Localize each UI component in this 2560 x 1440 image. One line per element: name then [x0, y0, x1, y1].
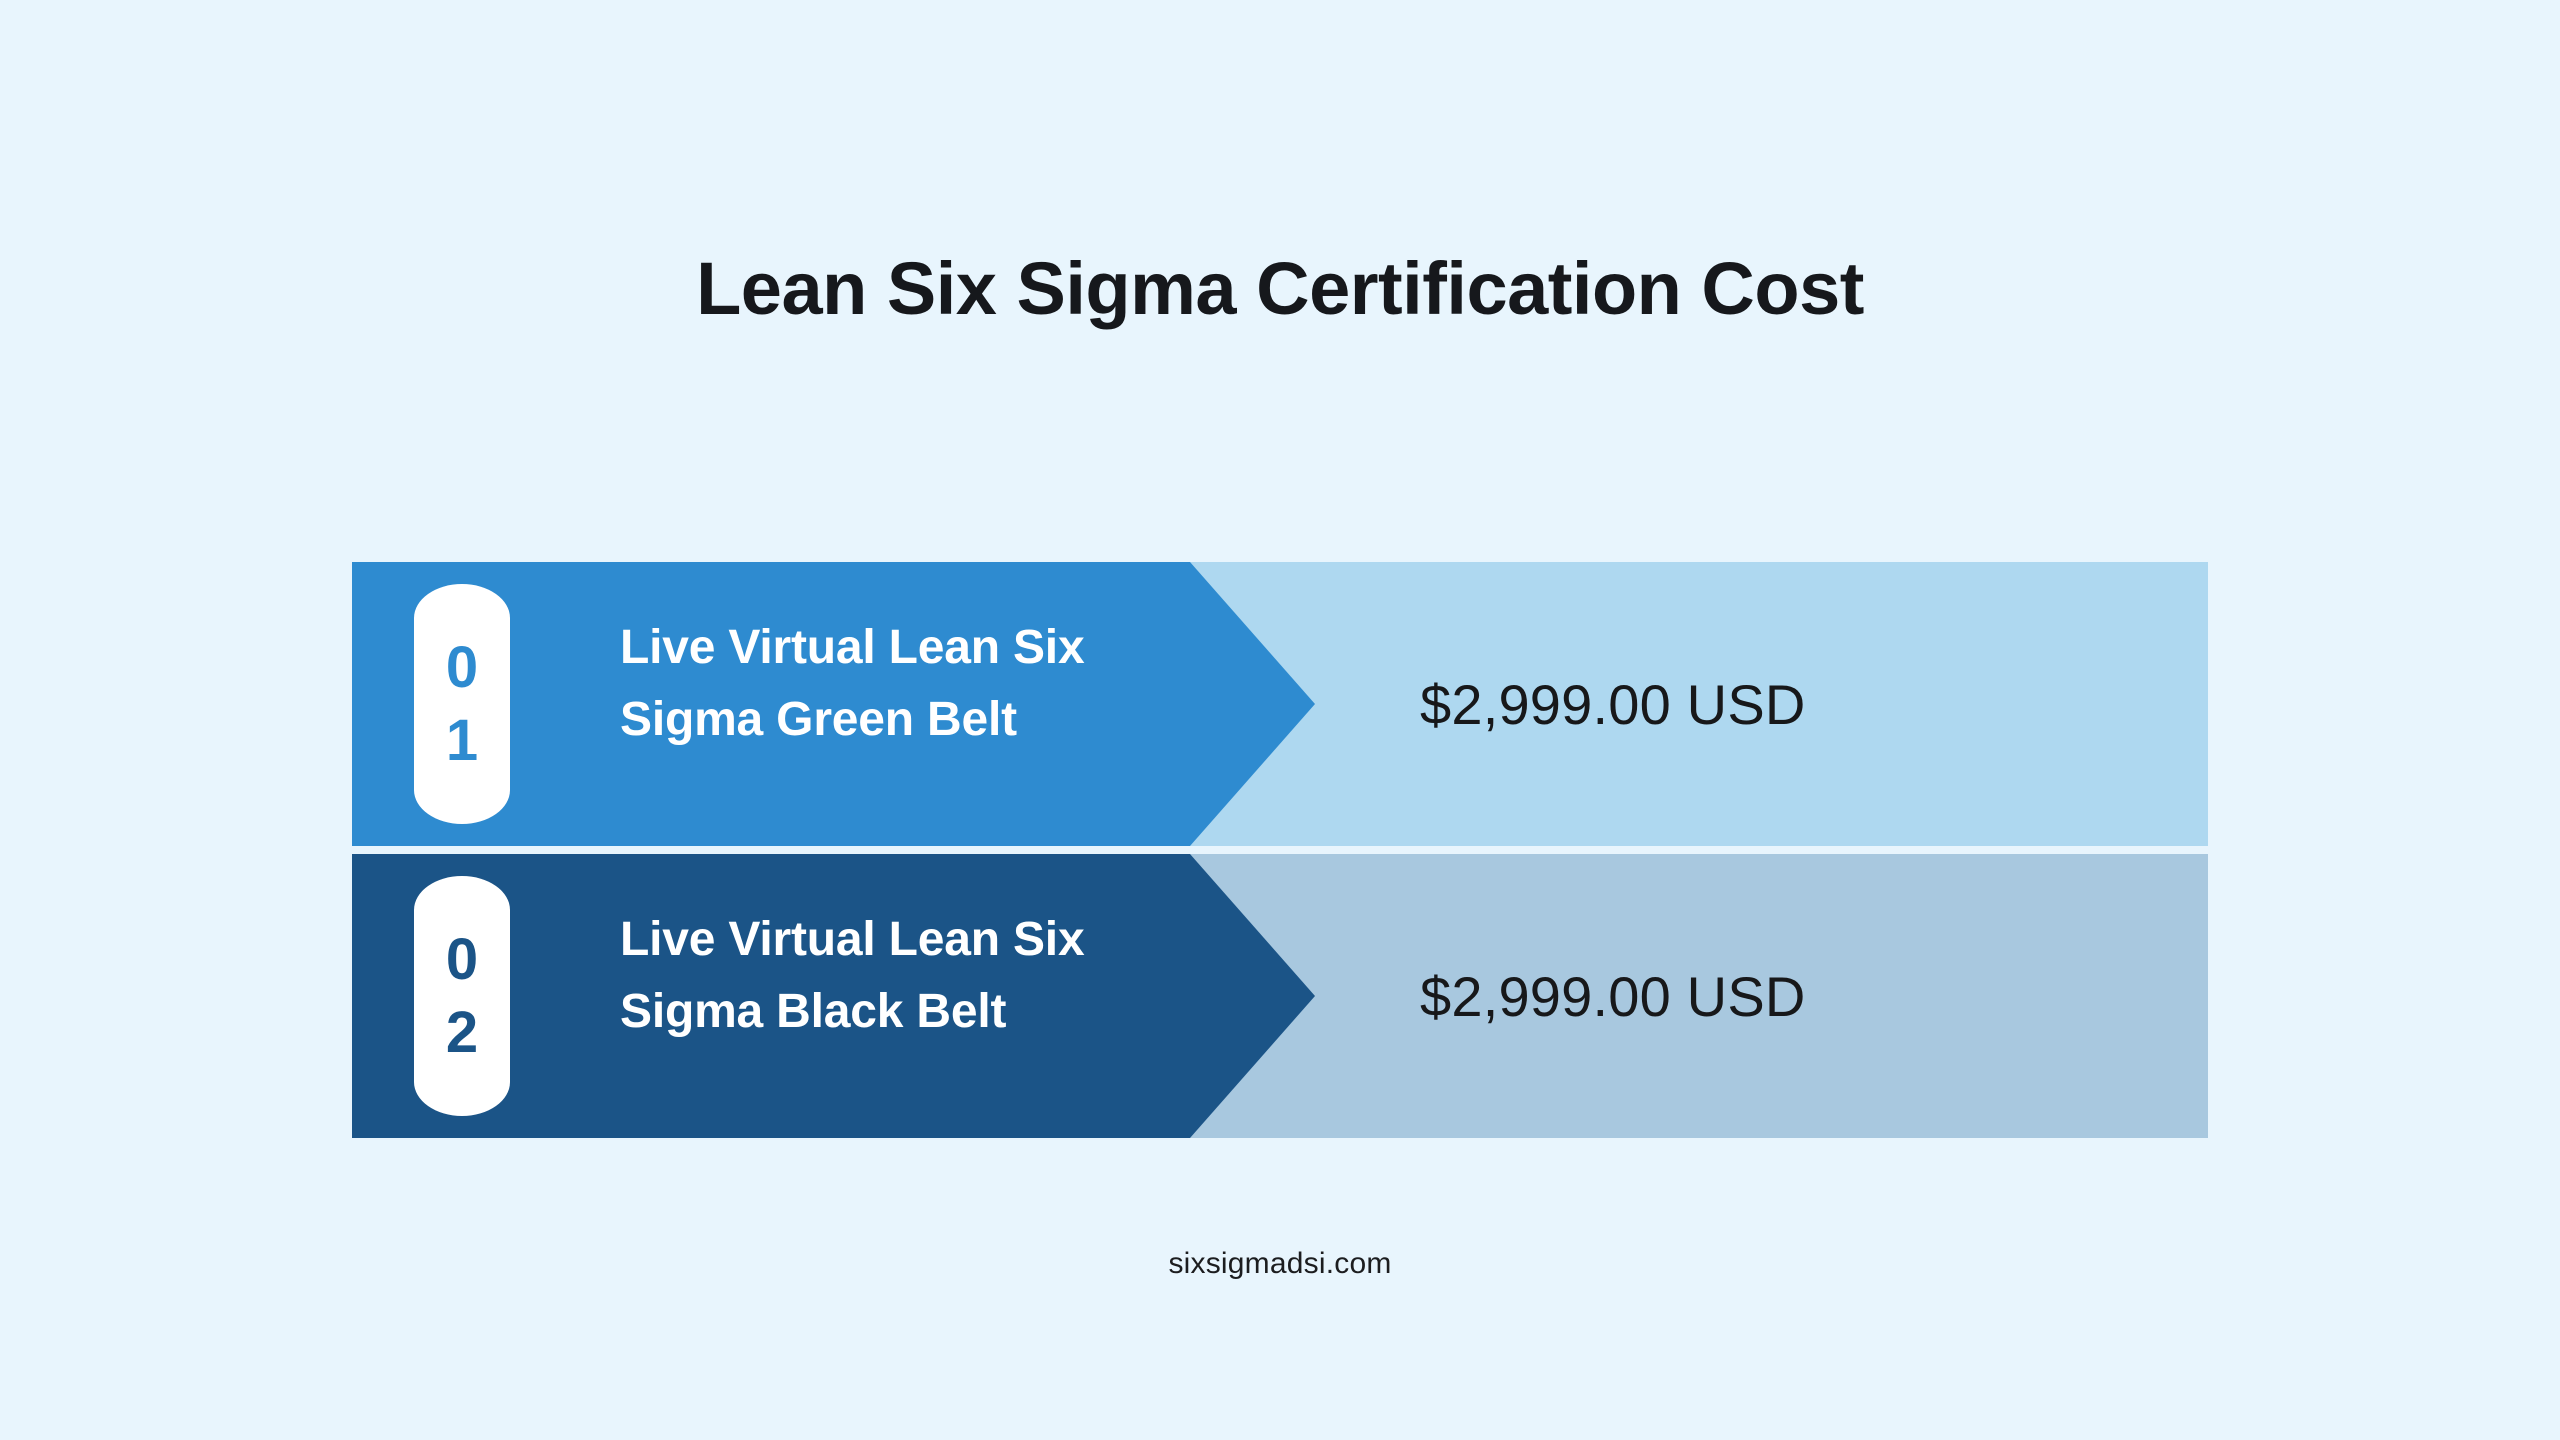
page-title: Lean Six Sigma Certification Cost	[0, 248, 2560, 329]
cost-list: 0 1 Live Virtual Lean Six Sigma Green Be…	[352, 562, 2208, 1146]
infographic-canvas: Lean Six Sigma Certification Cost 0 1 Li…	[0, 0, 2560, 1440]
course-title: Live Virtual Lean Six Sigma Green Belt	[620, 612, 1180, 756]
number-badge: 0 1	[414, 584, 510, 824]
badge-digits: 0 2	[414, 876, 510, 1116]
badge-digits: 0 1	[414, 584, 510, 824]
course-price: $2,999.00 USD	[1420, 854, 1806, 1138]
badge-digit-top: 0	[446, 932, 478, 987]
source-attribution: sixsigmadsi.com	[0, 1247, 2560, 1281]
course-price: $2,999.00 USD	[1420, 562, 1806, 846]
badge-digit-bottom: 1	[446, 713, 478, 768]
cost-row[interactable]: 0 1 Live Virtual Lean Six Sigma Green Be…	[352, 562, 2208, 846]
course-title: Live Virtual Lean Six Sigma Black Belt	[620, 904, 1180, 1048]
badge-digit-bottom: 2	[446, 1005, 478, 1060]
badge-digit-top: 0	[446, 640, 478, 695]
cost-row[interactable]: 0 2 Live Virtual Lean Six Sigma Black Be…	[352, 854, 2208, 1138]
number-badge: 0 2	[414, 876, 510, 1116]
